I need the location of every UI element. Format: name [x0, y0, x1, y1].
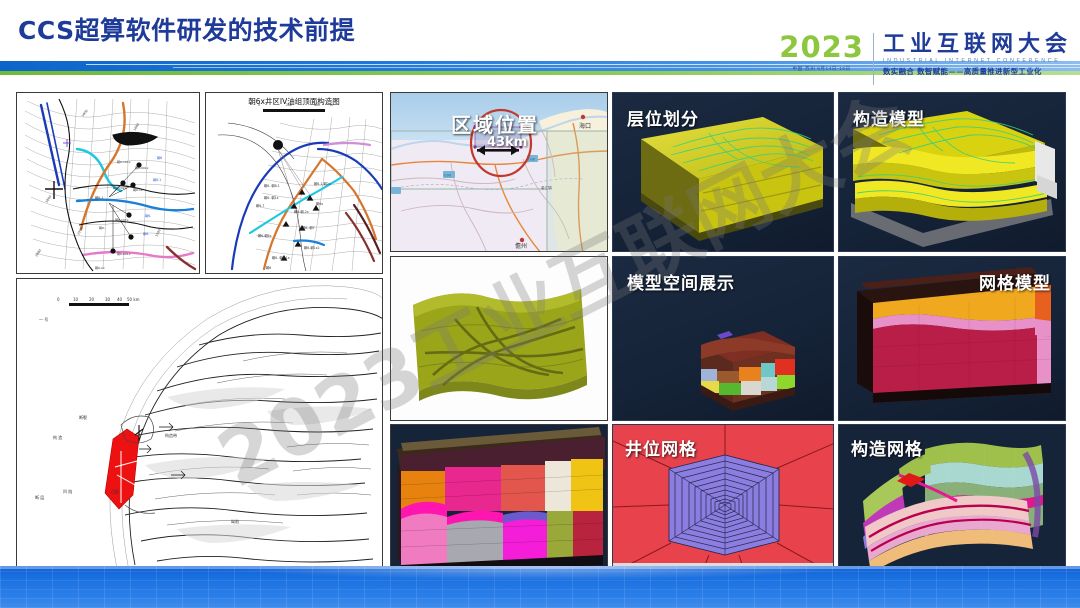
svg-text:朝6-朝-2x: 朝6-朝-2x — [294, 210, 309, 214]
panel-well-location-grid[interactable]: 井位网格 — [612, 424, 834, 578]
scale-tick-3: m — [330, 103, 333, 107]
panel-horizon-division[interactable]: 层位划分 — [612, 92, 834, 252]
grid-model-label: 网格模型 — [979, 269, 1051, 294]
footer-grid-pattern — [0, 566, 1080, 608]
logo-slogan: 数实融合 数智赋能——高质量推进新型工业化 — [883, 66, 1072, 77]
svg-text:断 层: 断 层 — [35, 494, 44, 500]
panel-contour-map-2[interactable]: 朝6- 朝6-1朝6-1-朝2x 朝6- 朝1x朝6x 朝6-7朝6-朝-2x … — [205, 92, 383, 274]
svg-text:朝6- 朝1x: 朝6- 朝1x — [264, 196, 279, 200]
panel-mosaic-model[interactable] — [390, 424, 608, 578]
svg-text:朝6-朝6x: 朝6-朝6x — [258, 234, 272, 238]
panel-region-location[interactable]: G98G98 金江镇 区域位置 43km 海口 儋州 — [390, 92, 608, 252]
svg-text:一 号: 一 号 — [39, 316, 48, 322]
basin-map-drawing: 01020 304050 km 一 号断裂 构 造凹 陷 凸起构造带 断 层坳陷 — [17, 279, 383, 578]
svg-text:20: 20 — [89, 297, 95, 302]
region-location-label: 区域位置 — [451, 109, 539, 138]
model-space-display-label: 模型空间展示 — [627, 269, 735, 294]
scale-tick-0: 0 — [258, 103, 260, 107]
svg-text:朝6: 朝6 — [266, 266, 271, 270]
svg-text:朝6- 朝6-1x: 朝6- 朝6-1x — [272, 256, 290, 260]
svg-text:朝6-101x: 朝6-101x — [117, 160, 131, 164]
footer-decoration — [0, 566, 1080, 608]
svg-text:坳陷: 坳陷 — [231, 518, 239, 524]
logo-name-block: 工业互联网大会 INDUSTRIAL INTERNET CONFERENCE 数… — [883, 33, 1072, 77]
svg-text:朝6-: 朝6- — [145, 214, 151, 218]
svg-text:朝6-107x: 朝6-107x — [115, 218, 129, 222]
svg-text:G98: G98 — [444, 174, 451, 178]
logo-separator — [873, 33, 874, 85]
contour-map-1-drawing: 朝6朝6-1 朝6-朝6- 朝6-101x朝6-102x 朝6-001x朝6-1… — [17, 93, 200, 274]
svg-text:朝6: 朝6 — [157, 156, 162, 160]
panel-basin-map[interactable]: 01020 304050 km 一 号断裂 构 造凹 陷 凸起构造带 断 层坳陷 — [16, 278, 383, 578]
city-label-danzhou: 儋州 — [515, 241, 527, 250]
svg-text:构造带: 构造带 — [165, 432, 177, 438]
panel-model-space-display[interactable]: 模型空间展示 — [612, 256, 834, 421]
logo-name-en: INDUSTRIAL INTERNET CONFERENCE — [883, 58, 1072, 64]
svg-text:朝6-朝1x2: 朝6-朝1x2 — [304, 246, 320, 250]
structural-model-label: 构造模型 — [853, 105, 925, 130]
logo-year-subtitle: 中国·苏州 8月14日-16日 — [792, 66, 850, 72]
svg-text:朝6-: 朝6- — [143, 232, 149, 236]
svg-text:构 造: 构 造 — [53, 434, 62, 440]
svg-text:朝6-601x: 朝6-601x — [117, 252, 131, 256]
svg-text:10: 10 — [73, 297, 79, 302]
svg-text:朝6-1: 朝6-1 — [95, 196, 103, 200]
svg-text:凸起: 凸起 — [111, 488, 119, 494]
svg-text:30: 30 — [105, 297, 111, 302]
slide-root: CCS超算软件研发的技术前提 2023 中国·苏州 8月14日-16日 工业互联… — [0, 0, 1080, 608]
svg-text:朝6-1x: 朝6-1x — [95, 266, 105, 270]
contour-map-2-caption: 朝6x井区IV油组顶面构造图 — [206, 96, 382, 107]
logo-year-block: 2023 中国·苏州 8月14日-16日 — [779, 33, 873, 72]
svg-text:朝6-: 朝6- — [99, 226, 105, 230]
svg-text:朝6-1-朝2x: 朝6-1-朝2x — [314, 182, 331, 186]
page-title: CCS超算软件研发的技术前提 — [18, 11, 355, 47]
svg-text:朝6-1: 朝6-1 — [153, 178, 161, 182]
svg-text:朝6-102x: 朝6-102x — [113, 186, 127, 190]
contour-map-2-drawing: 朝6- 朝6-1朝6-1-朝2x 朝6- 朝1x朝6x 朝6-7朝6-朝-2x … — [206, 93, 383, 274]
svg-text:断裂: 断裂 — [79, 414, 87, 420]
mosaic-model-drawing — [391, 425, 608, 578]
svg-text:金江镇: 金江镇 — [541, 185, 552, 190]
svg-text:朝6-7: 朝6-7 — [256, 204, 264, 208]
city-label-haikou: 海口 — [579, 121, 591, 130]
well-location-grid-label: 井位网格 — [625, 435, 697, 460]
logo-year: 2023 — [779, 33, 864, 62]
svg-text:凹 陷: 凹 陷 — [63, 488, 72, 494]
panel-contour-map-1[interactable]: 朝6朝6-1 朝6-朝6- 朝6-101x朝6-102x 朝6-001x朝6-1… — [16, 92, 200, 274]
horizon-division-label: 层位划分 — [627, 105, 699, 130]
panel-structural-model[interactable]: 构造模型 — [838, 92, 1066, 252]
svg-text:朝6-001x: 朝6-001x — [135, 166, 149, 170]
structural-grid-label: 构造网格 — [851, 435, 923, 460]
logo-name-cn: 工业互联网大会 — [883, 33, 1072, 56]
panel-surface-model[interactable] — [390, 256, 608, 421]
svg-text:朝6- 朝7: 朝6- 朝7 — [302, 226, 315, 230]
svg-text:朝6- 朝6-1: 朝6- 朝6-1 — [264, 184, 280, 188]
svg-text:朝6x: 朝6x — [316, 202, 323, 206]
conference-logo: 2023 中国·苏州 8月14日-16日 工业互联网大会 INDUSTRIAL … — [779, 33, 1072, 85]
svg-text:40: 40 — [117, 297, 123, 302]
contour-map-2-scalebar — [263, 109, 325, 112]
panel-structural-grid[interactable]: 构造网格 — [838, 424, 1066, 578]
scale-tick-2: 500 — [314, 103, 320, 107]
svg-text:朝6-1x: 朝6-1x — [133, 188, 143, 192]
svg-text:G98: G98 — [528, 158, 535, 162]
scale-tick-1: 250 — [286, 103, 292, 107]
svg-text:50 km: 50 km — [127, 297, 140, 302]
surface-model-drawing — [391, 257, 608, 421]
panel-grid-model[interactable]: 网格模型 — [838, 256, 1066, 421]
